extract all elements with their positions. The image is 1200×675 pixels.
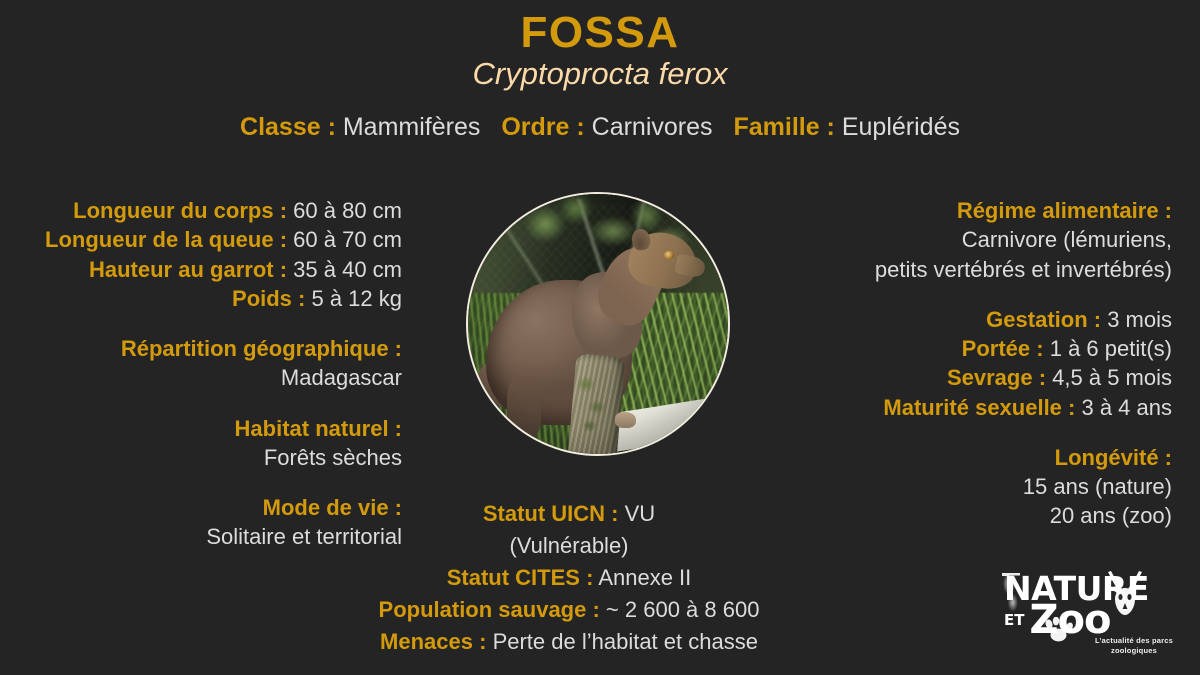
fact-label-gestation: Gestation : <box>986 307 1101 332</box>
fact-label-litter: Portée : <box>962 336 1044 361</box>
fact-value-longevity-wild: 15 ans (nature) <box>780 472 1172 501</box>
habitat-block: Habitat naturel : Forêts sèches <box>0 414 402 473</box>
fact-value-gestation: 3 mois <box>1107 307 1172 332</box>
morphology-block: Longueur du corps : 60 à 80 cm Longueur … <box>0 196 402 313</box>
right-column: Régime alimentaire : Carnivore (lémurien… <box>780 196 1200 531</box>
brand-logo-word-et: ET <box>1004 613 1024 637</box>
fact-label-body-length: Longueur du corps : <box>73 198 287 223</box>
fact-row-sexual-maturity: Maturité sexuelle : 3 à 4 ans <box>780 393 1172 422</box>
taxonomy-row: Classe : Mammifères Ordre : Carnivores F… <box>0 111 1200 144</box>
status-row-uicn-note: (Vulnérable) <box>0 530 1200 562</box>
claw-scratch-icon <box>1002 573 1020 615</box>
scientific-name: Cryptoprocta ferox <box>0 55 1200 94</box>
diet-block: Régime alimentaire : Carnivore (lémurien… <box>780 196 1172 284</box>
fact-value-weaning: 4,5 à 5 mois <box>1052 365 1172 390</box>
species-photo-image <box>468 194 728 454</box>
status-value-population: ~ 2 600 à 8 600 <box>606 597 760 622</box>
fact-label-habitat: Habitat naturel : <box>0 414 402 443</box>
status-value-cites: Annexe II <box>598 565 691 590</box>
antelope-head-icon <box>1104 570 1146 616</box>
fact-label-sexual-maturity: Maturité sexuelle : <box>883 395 1075 420</box>
species-fact-card: FOSSA Cryptoprocta ferox Classe : Mammif… <box>0 0 1200 675</box>
status-value-uicn: VU <box>625 501 656 526</box>
card-header: FOSSA Cryptoprocta ferox <box>0 0 1200 94</box>
fact-label-weight: Poids : <box>232 286 305 311</box>
taxonomy-item-famille: Famille : Eupléridés <box>733 113 960 141</box>
taxonomy-value-ordre: Carnivores <box>592 113 713 141</box>
fact-value-weight: 5 à 12 kg <box>311 286 402 311</box>
fact-row-shoulder-height: Hauteur au garrot : 35 à 40 cm <box>0 255 402 284</box>
distribution-block: Répartition géographique : Madagascar <box>0 334 402 393</box>
status-label-uicn: Statut UICN : <box>483 501 619 526</box>
fact-label-diet: Régime alimentaire : <box>780 196 1172 225</box>
fact-value-diet-line2: petits vertébrés et invertébrés) <box>780 255 1172 284</box>
reproduction-block: Gestation : 3 mois Portée : 1 à 6 petit(… <box>780 305 1172 422</box>
brand-logo-row-zoo: ET Zoo <box>1004 603 1178 637</box>
fact-row-tail-length: Longueur de la queue : 60 à 70 cm <box>0 225 402 254</box>
fact-label-tail-length: Longueur de la queue : <box>45 227 287 252</box>
status-label-cites: Statut CITES : <box>447 565 594 590</box>
taxonomy-value-classe: Mammifères <box>343 113 481 141</box>
status-label-population: Population sauvage : <box>379 597 600 622</box>
fact-value-tail-length: 60 à 70 cm <box>293 227 402 252</box>
paw-print-icon <box>1042 617 1076 643</box>
page-title: FOSSA <box>0 8 1200 57</box>
taxonomy-label-ordre: Ordre : <box>501 113 584 141</box>
fact-label-longevity: Longévité : <box>780 443 1172 472</box>
fact-row-gestation: Gestation : 3 mois <box>780 305 1172 334</box>
fact-label-weaning: Sevrage : <box>947 365 1046 390</box>
taxonomy-label-classe: Classe : <box>240 113 336 141</box>
status-label-threats: Menaces : <box>380 629 486 654</box>
taxonomy-label-famille: Famille : <box>733 113 834 141</box>
taxonomy-value-famille: Eupléridés <box>842 113 960 141</box>
fact-row-weight: Poids : 5 à 12 kg <box>0 284 402 313</box>
status-value-uicn-note: (Vulnérable) <box>509 533 628 558</box>
status-value-threats: Perte de l’habitat et chasse <box>493 629 758 654</box>
fact-value-litter: 1 à 6 petit(s) <box>1050 336 1172 361</box>
brand-logo-word-nature: Nature <box>1004 573 1178 604</box>
fact-value-body-length: 60 à 80 cm <box>293 198 402 223</box>
fact-row-litter: Portée : 1 à 6 petit(s) <box>780 334 1172 363</box>
taxonomy-item-classe: Classe : Mammifères <box>240 113 480 141</box>
status-row-uicn: Statut UICN : VU <box>0 498 1200 530</box>
taxonomy-item-ordre: Ordre : Carnivores <box>501 113 712 141</box>
fact-value-sexual-maturity: 3 à 4 ans <box>1081 395 1172 420</box>
fact-value-shoulder-height: 35 à 40 cm <box>293 257 402 282</box>
fact-row-weaning: Sevrage : 4,5 à 5 mois <box>780 363 1172 392</box>
fact-value-diet-line1: Carnivore (lémuriens, <box>780 225 1172 254</box>
brand-logo[interactable]: Nature ET Zoo L’actualité des parcs zool… <box>1004 573 1178 659</box>
brand-logo-tagline: L’actualité des parcs zoologiques <box>1090 636 1178 655</box>
fact-value-habitat: Forêts sèches <box>0 443 402 472</box>
fact-value-distribution: Madagascar <box>0 363 402 392</box>
fact-label-shoulder-height: Hauteur au garrot : <box>89 257 287 282</box>
fact-row-body-length: Longueur du corps : 60 à 80 cm <box>0 196 402 225</box>
species-photo <box>466 192 730 456</box>
photo-vignette <box>468 194 728 454</box>
fact-label-distribution: Répartition géographique : <box>0 334 402 363</box>
